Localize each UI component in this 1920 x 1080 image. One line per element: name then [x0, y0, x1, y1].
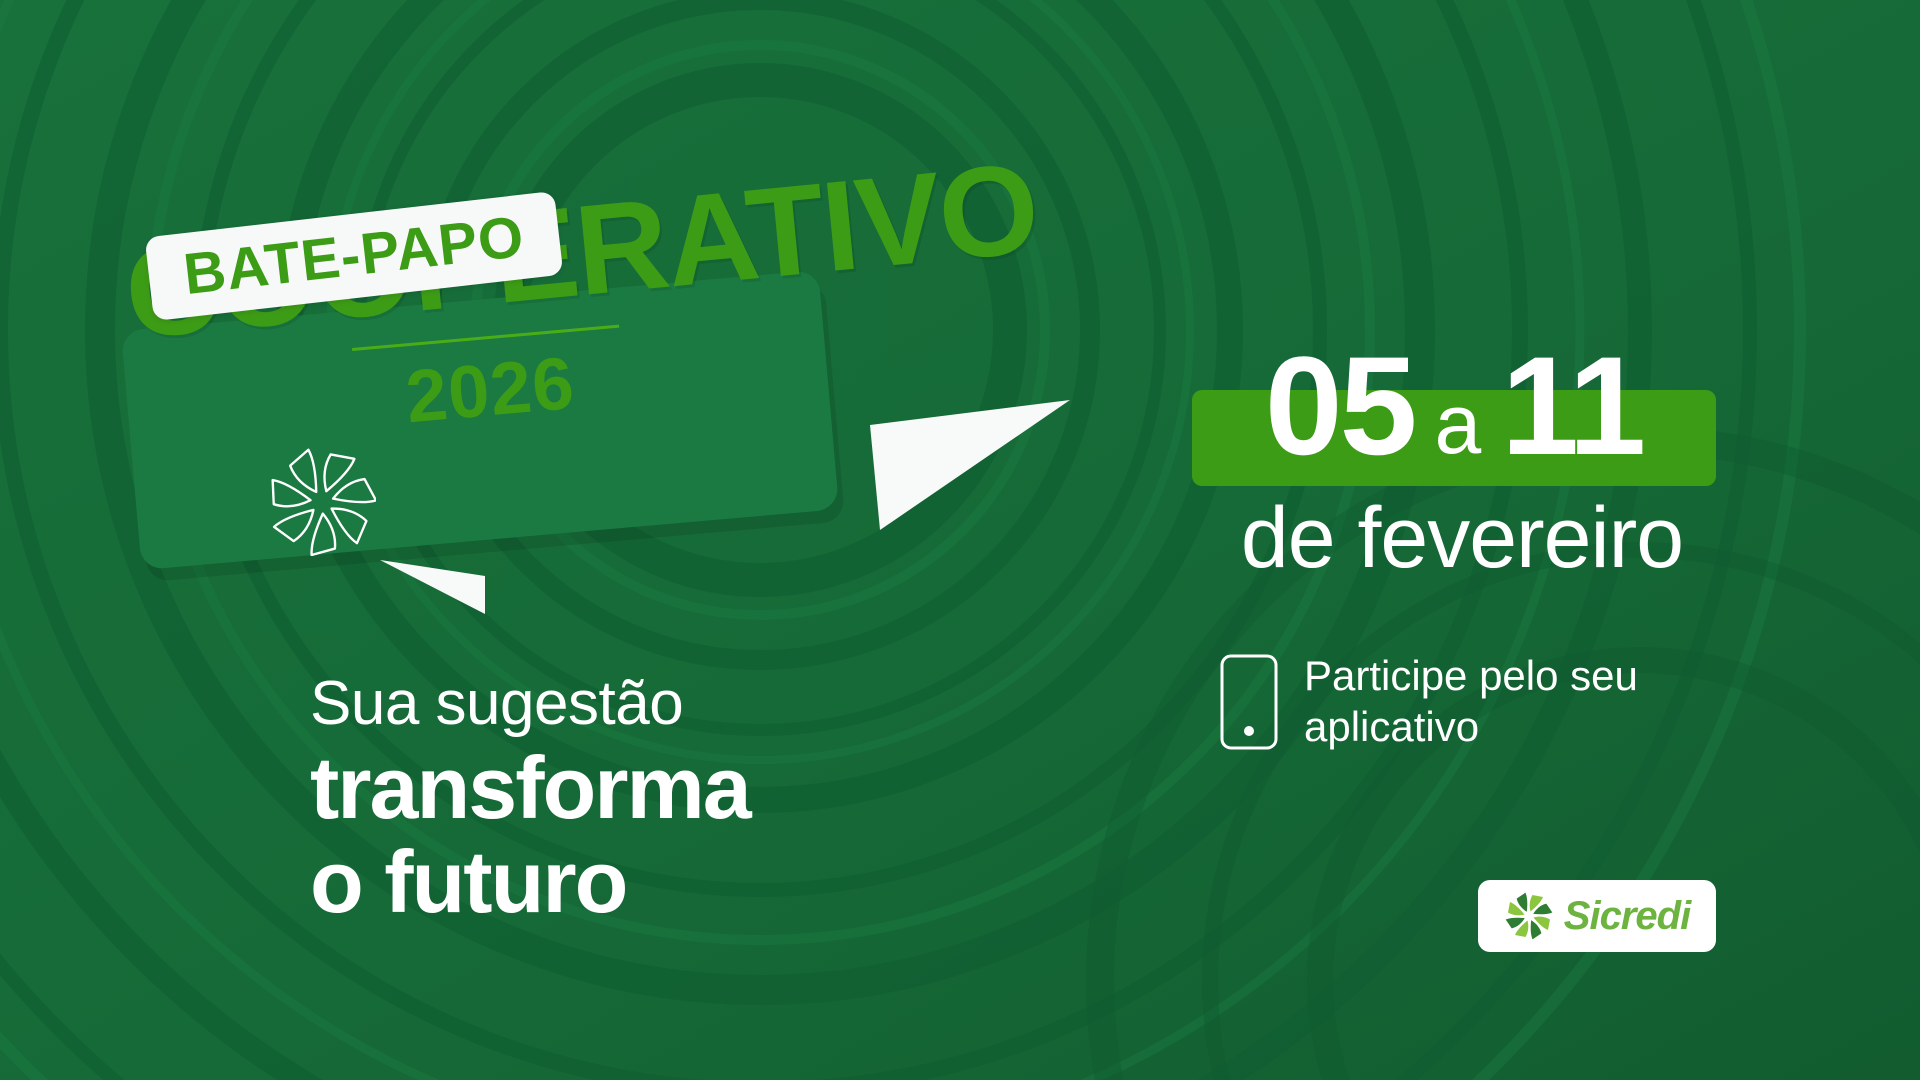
date-separator: a — [1415, 382, 1502, 466]
phone-icon — [1220, 654, 1278, 750]
tagline-line-3: o futuro — [310, 835, 750, 928]
promo-banner: BATE-PAPO COOPERATIVO 2026 — [0, 0, 1920, 1080]
date-start: 05 — [1265, 336, 1415, 476]
date-range: 05 a 11 — [1192, 326, 1716, 486]
sicredi-pinwheel-icon — [1504, 891, 1554, 941]
app-callout: Participe pelo seu aplicativo — [1220, 650, 1638, 752]
tagline-line-2: transforma — [310, 741, 750, 834]
date-month: de fevereiro — [1192, 495, 1732, 581]
sicredi-wordmark: Sicredi — [1564, 896, 1690, 936]
tagline: Sua sugestão transforma o futuro — [310, 672, 750, 928]
date-end: 11 — [1501, 336, 1643, 476]
triangle-left-icon — [380, 556, 490, 618]
tagline-line-1: Sua sugestão — [310, 672, 750, 735]
app-callout-text: Participe pelo seu aplicativo — [1304, 650, 1638, 752]
triangle-right-icon — [870, 390, 1070, 535]
sicredi-logo: Sicredi — [1478, 880, 1716, 952]
pinwheel-outline-icon — [268, 448, 376, 556]
